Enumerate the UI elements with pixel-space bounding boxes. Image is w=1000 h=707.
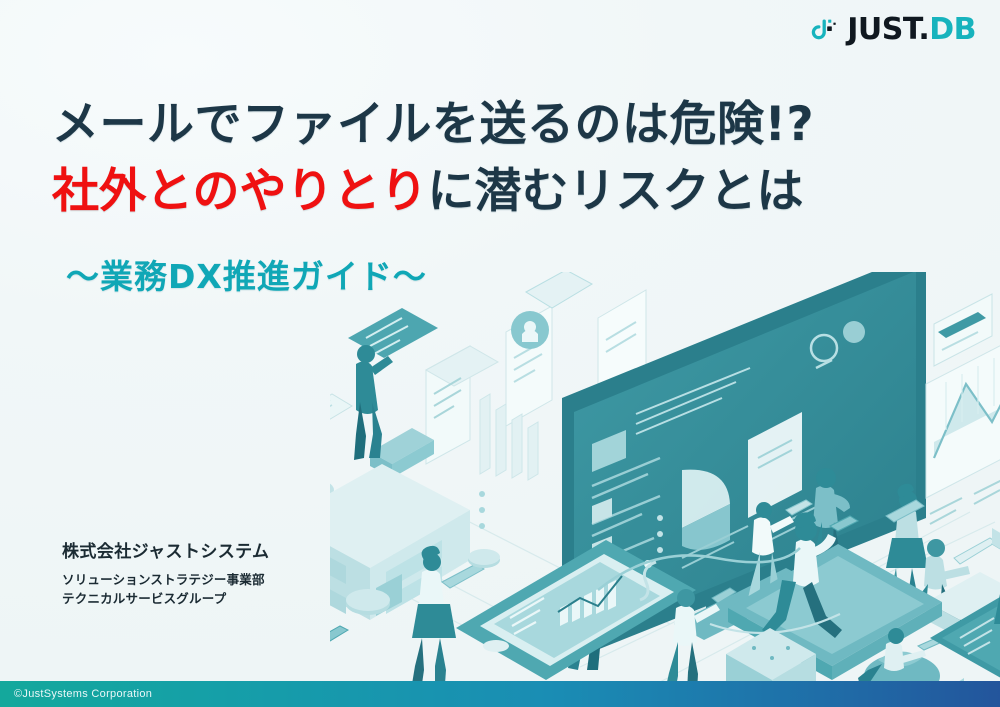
company-group: テクニカルサービスグループ: [62, 590, 269, 609]
brand-logo[interactable]: JUST.DB: [810, 10, 976, 50]
isometric-digital-workplace-illustration: [330, 272, 1000, 684]
company-name: 株式会社ジャストシステム: [62, 537, 269, 562]
subtitle: 〜業務DX推進ガイド〜: [66, 250, 427, 298]
wordmark-just: JUST: [847, 12, 918, 47]
headline-highlight-red: 社外とのやりとり: [52, 164, 428, 219]
wordmark-dot: .: [918, 12, 929, 47]
slide-root: JUST.DB メールでファイルを送るのは危険!? 社外とのやりとりに潜むリスク…: [0, 0, 1000, 707]
justdb-glyph-icon: [810, 15, 840, 45]
headline-line-2: 社外とのやりとりに潜むリスクとは: [52, 159, 932, 226]
headline-line-1: メールでファイルを送るのは危険!?: [52, 92, 932, 159]
company-division-group: ソリューションストラテジー事業部 テクニカルサービスグループ: [62, 571, 269, 609]
footer-bar: ©JustSystems Corporation: [0, 681, 1000, 707]
company-block: 株式会社ジャストシステム ソリューションストラテジー事業部 テクニカルサービスグ…: [62, 537, 269, 609]
headline-line-2-rest: に潜むリスクとは: [428, 164, 804, 219]
brand-wordmark: JUST.DB: [847, 15, 976, 45]
company-division: ソリューションストラテジー事業部: [62, 571, 269, 590]
copyright-text: ©JustSystems Corporation: [0, 688, 152, 700]
wordmark-db: DB: [929, 12, 976, 47]
headline-block: メールでファイルを送るのは危険!? 社外とのやりとりに潜むリスクとは: [52, 92, 932, 225]
